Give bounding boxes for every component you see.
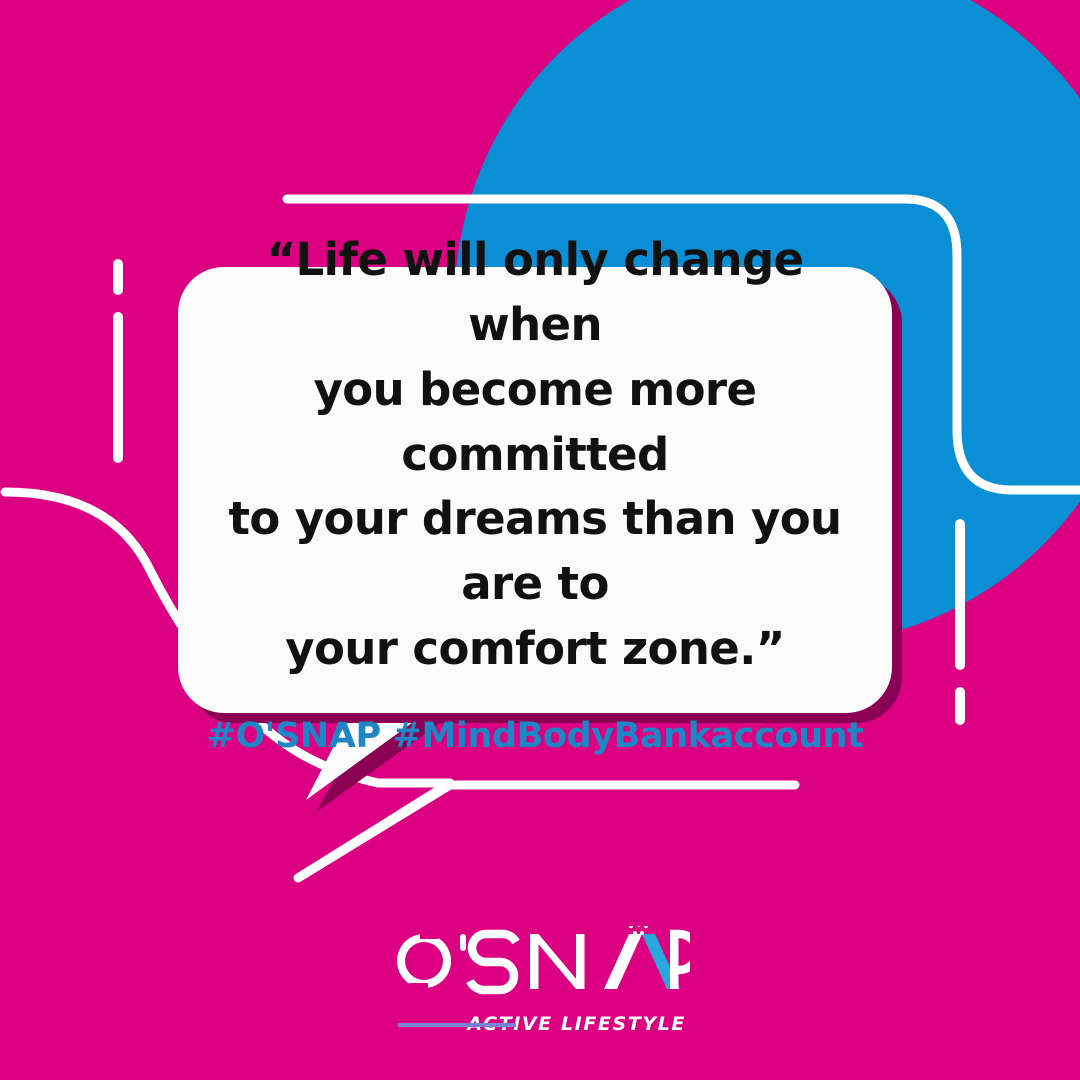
logo-letter-n: [530, 934, 585, 989]
quote-line-1: “Life will only change when: [204, 228, 866, 358]
brand-logo: ACTIVE LIFESTYLE: [0, 930, 1080, 1038]
speech-bubble: “Life will only change when you become m…: [178, 267, 892, 713]
quote-card: “Life will only change when you become m…: [0, 0, 1080, 1080]
quote-line-3: to your dreams than you are to: [204, 487, 866, 617]
logo-apostrophe: [460, 934, 466, 951]
logo-tagline-row: ACTIVE LIFESTYLE: [394, 1010, 686, 1038]
quote-line-2: you become more committed: [204, 358, 866, 488]
logo-letter-a: [604, 934, 680, 989]
quote-text: “Life will only change when you become m…: [204, 228, 866, 682]
logo-rule: [398, 1023, 516, 1027]
quote-line-4: your comfort zone.”: [204, 617, 866, 682]
logo-letter-s: [470, 934, 516, 990]
osnap-logo-icon: [390, 926, 690, 1004]
logo-letter-o: [397, 930, 451, 992]
logo-letter-p: [670, 934, 690, 989]
speech-bubble-content: “Life will only change when you become m…: [178, 267, 892, 713]
hashtags-text: #O'SNAP #MindBodyBankaccount: [207, 716, 864, 756]
logo-wordmark: [390, 930, 690, 1004]
